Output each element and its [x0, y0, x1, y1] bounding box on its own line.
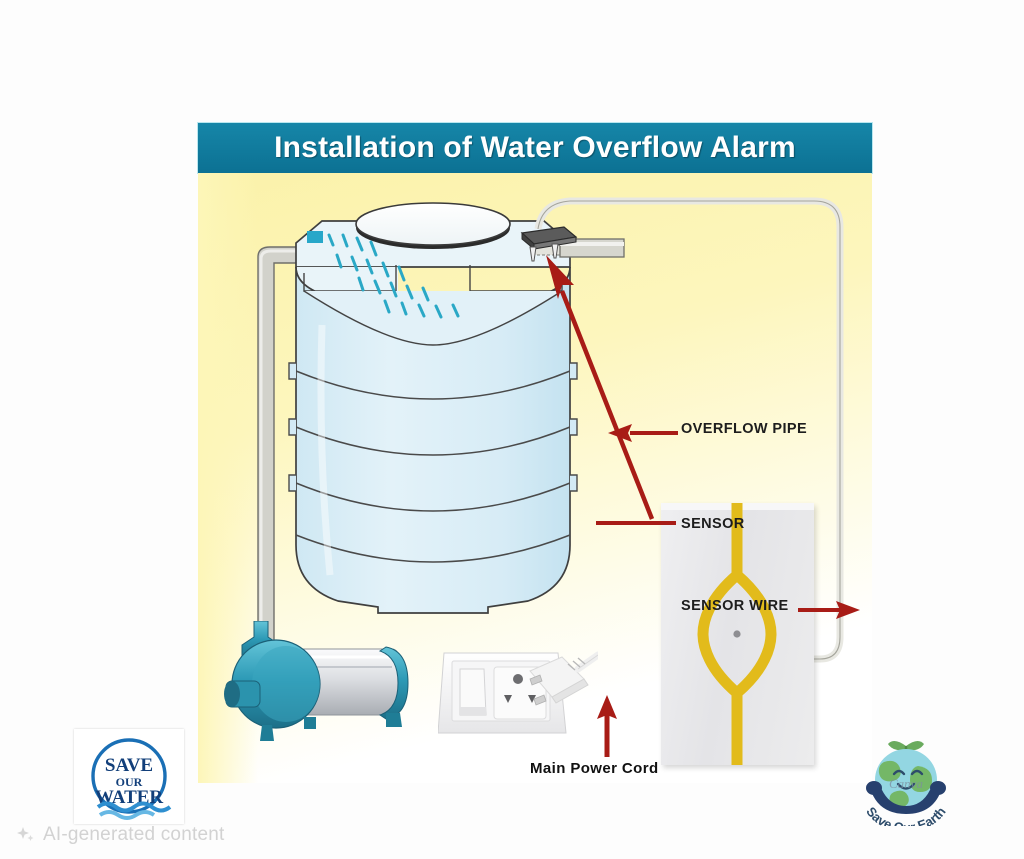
wall-socket-and-plug[interactable]: [438, 645, 598, 750]
page-title: Installation of Water Overflow Alarm: [274, 131, 796, 165]
main-power-cord-arrow: [594, 695, 620, 757]
diagram-panel: OVERFLOW PIPE SENSOR SENSOR WIRE Main Po…: [198, 173, 872, 783]
save-our-water-logo-graphic: SAVE OUR WATER: [74, 729, 184, 824]
alarm-unit[interactable]: [661, 503, 814, 765]
sensor-wire-arrow: [798, 600, 860, 620]
alarm-unit-face: [661, 503, 814, 765]
label-sensor: SENSOR: [681, 516, 745, 532]
ai-generated-watermark: AI-generated content: [16, 824, 224, 846]
logo-line-1: SAVE: [105, 755, 153, 776]
sparkle-icon: [16, 825, 36, 845]
sensor-pointer-arrow: [528, 255, 658, 527]
diagram-title-banner: Installation of Water Overflow Alarm: [198, 123, 872, 173]
label-main-power-cord: Main Power Cord: [530, 760, 659, 777]
label-sensor-wire: SENSOR WIRE: [681, 598, 789, 614]
label-overflow-pipe: OVERFLOW PIPE: [681, 421, 807, 437]
inflow-water-spray: [307, 229, 507, 334]
save-our-water-logo: SAVE OUR WATER: [74, 729, 184, 824]
water-pump: [218, 621, 433, 746]
screenshot-canvas: Installation of Water Overflow Alarm: [0, 0, 1024, 859]
save-our-earth-logo: Canva Save Our Earth: [850, 726, 962, 826]
save-our-earth-logo-graphic: Canva Save Our Earth: [850, 726, 962, 826]
alarm-indicator-dot: [733, 630, 740, 637]
ai-generated-watermark-text: AI-generated content: [43, 824, 224, 846]
canva-watermark: Canva: [889, 776, 923, 791]
